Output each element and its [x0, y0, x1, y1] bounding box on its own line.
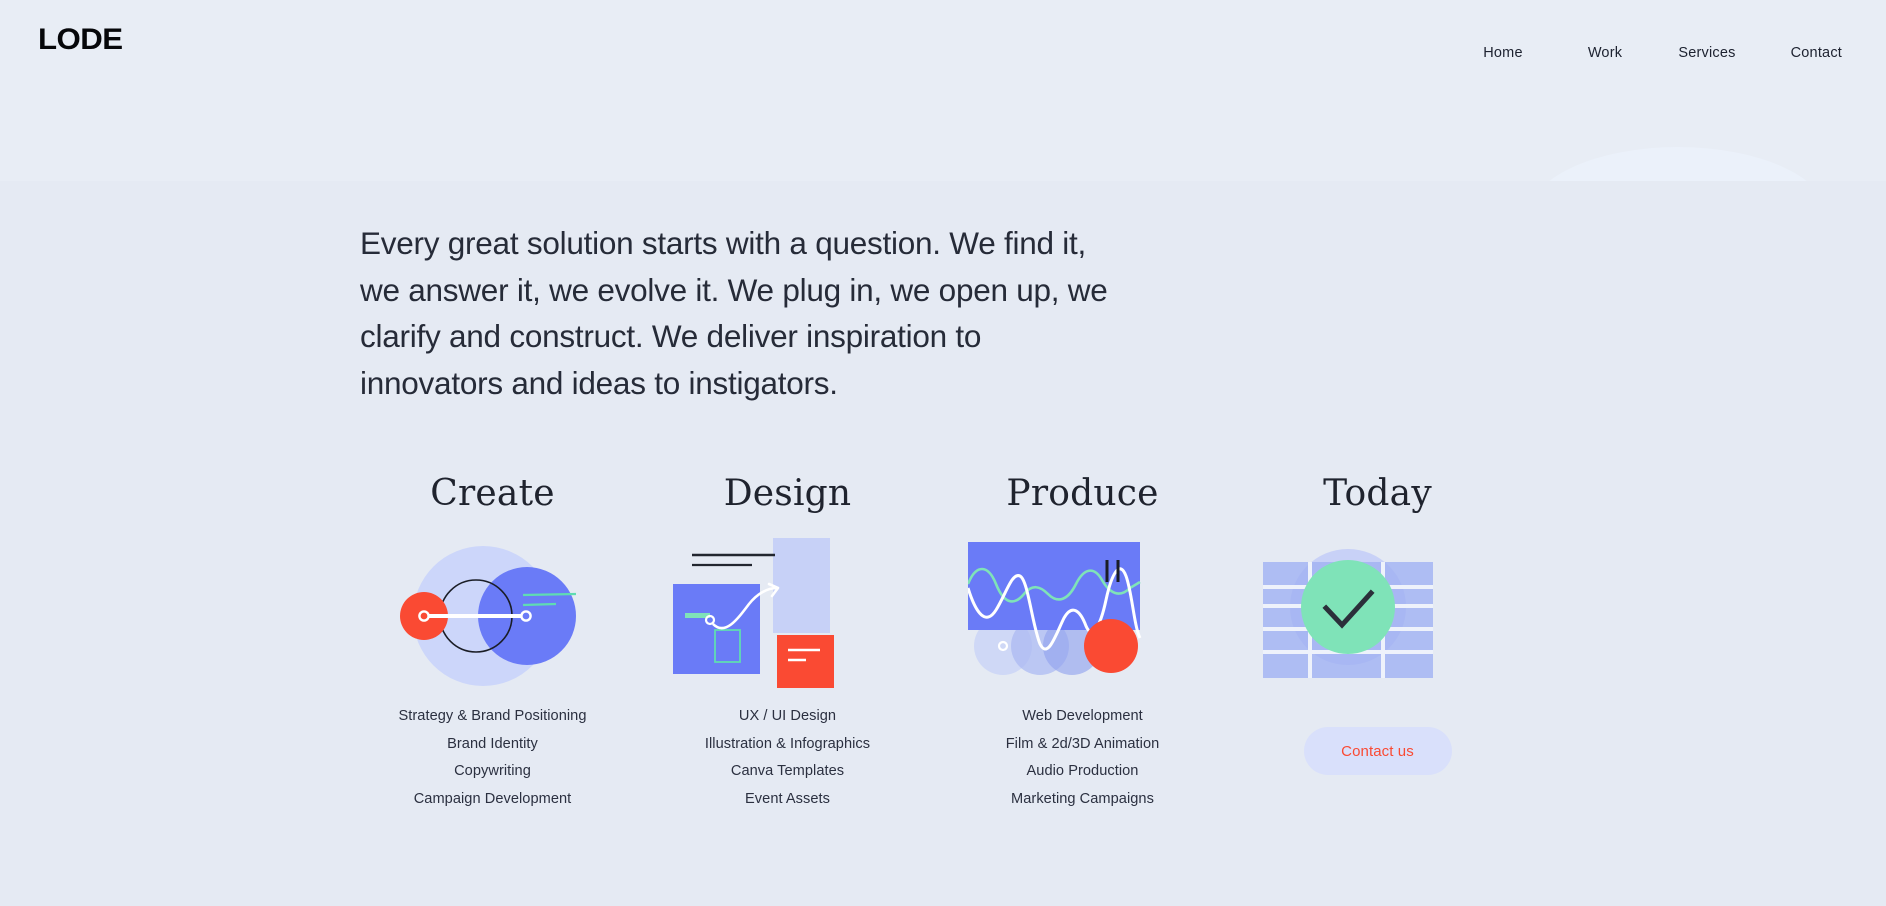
service-column-design: Design UX / UI Design Illustration & Inf…: [640, 472, 935, 807]
service-column-create: Create Strategy & Brand Positioning Bran…: [345, 472, 640, 807]
service-item[interactable]: Film & 2d/3D Animation: [1006, 736, 1160, 752]
accent-line-short: [523, 604, 556, 605]
service-item[interactable]: Copywriting: [454, 763, 531, 779]
brand-logo[interactable]: LODE: [38, 25, 123, 55]
service-item[interactable]: UX / UI Design: [739, 708, 836, 724]
panel-blue: [673, 584, 760, 674]
success-circle: [1301, 560, 1395, 654]
service-item[interactable]: Campaign Development: [414, 791, 572, 807]
design-illustration: [673, 546, 903, 686]
accent-line-long: [523, 594, 576, 595]
service-item[interactable]: Canva Templates: [731, 763, 844, 779]
waveform-panel: [968, 542, 1140, 630]
service-list-design: UX / UI Design Illustration & Infographi…: [705, 708, 870, 807]
column-title-produce: Produce: [1006, 472, 1158, 522]
service-column-produce: Produce Web Development Film & 2d/3D Ani…: [935, 472, 1230, 807]
nav-item-services[interactable]: Services: [1656, 45, 1758, 61]
contact-us-button[interactable]: Contact us: [1304, 727, 1452, 775]
panel-lavender: [773, 538, 830, 633]
column-title-create: Create: [430, 472, 555, 522]
service-item[interactable]: Illustration & Infographics: [705, 736, 870, 752]
main-navigation: Home Work Services Contact: [1452, 45, 1844, 61]
accent-circle-red: [1084, 619, 1138, 673]
service-list-create: Strategy & Brand Positioning Brand Ident…: [399, 708, 587, 807]
column-title-design: Design: [724, 472, 852, 522]
hero-headline: Every great solution starts with a quest…: [360, 220, 1120, 406]
service-list-produce: Web Development Film & 2d/3D Animation A…: [1006, 708, 1160, 807]
connector-node-right: [521, 611, 530, 620]
service-item[interactable]: Strategy & Brand Positioning: [399, 708, 587, 724]
service-column-today: Today Contact us: [1230, 472, 1525, 807]
today-illustration: [1263, 546, 1493, 686]
nav-item-contact[interactable]: Contact: [1758, 45, 1844, 61]
services-columns: Create Strategy & Brand Positioning Bran…: [345, 472, 1525, 807]
connector-node-left: [419, 611, 428, 620]
nav-item-work[interactable]: Work: [1554, 45, 1656, 61]
top-navigation-bar: LODE Home Work Services Contact: [0, 0, 1886, 95]
nav-item-home[interactable]: Home: [1452, 45, 1554, 61]
service-item[interactable]: Brand Identity: [447, 736, 538, 752]
service-item[interactable]: Event Assets: [745, 791, 830, 807]
hero-decorative-arc: [1528, 147, 1828, 181]
service-item[interactable]: Marketing Campaigns: [1011, 791, 1154, 807]
column-title-today: Today: [1323, 472, 1432, 522]
create-illustration: [378, 546, 608, 686]
panel-red: [777, 635, 834, 688]
service-item[interactable]: Web Development: [1022, 708, 1143, 724]
produce-illustration: [968, 546, 1198, 686]
service-item[interactable]: Audio Production: [1027, 763, 1139, 779]
